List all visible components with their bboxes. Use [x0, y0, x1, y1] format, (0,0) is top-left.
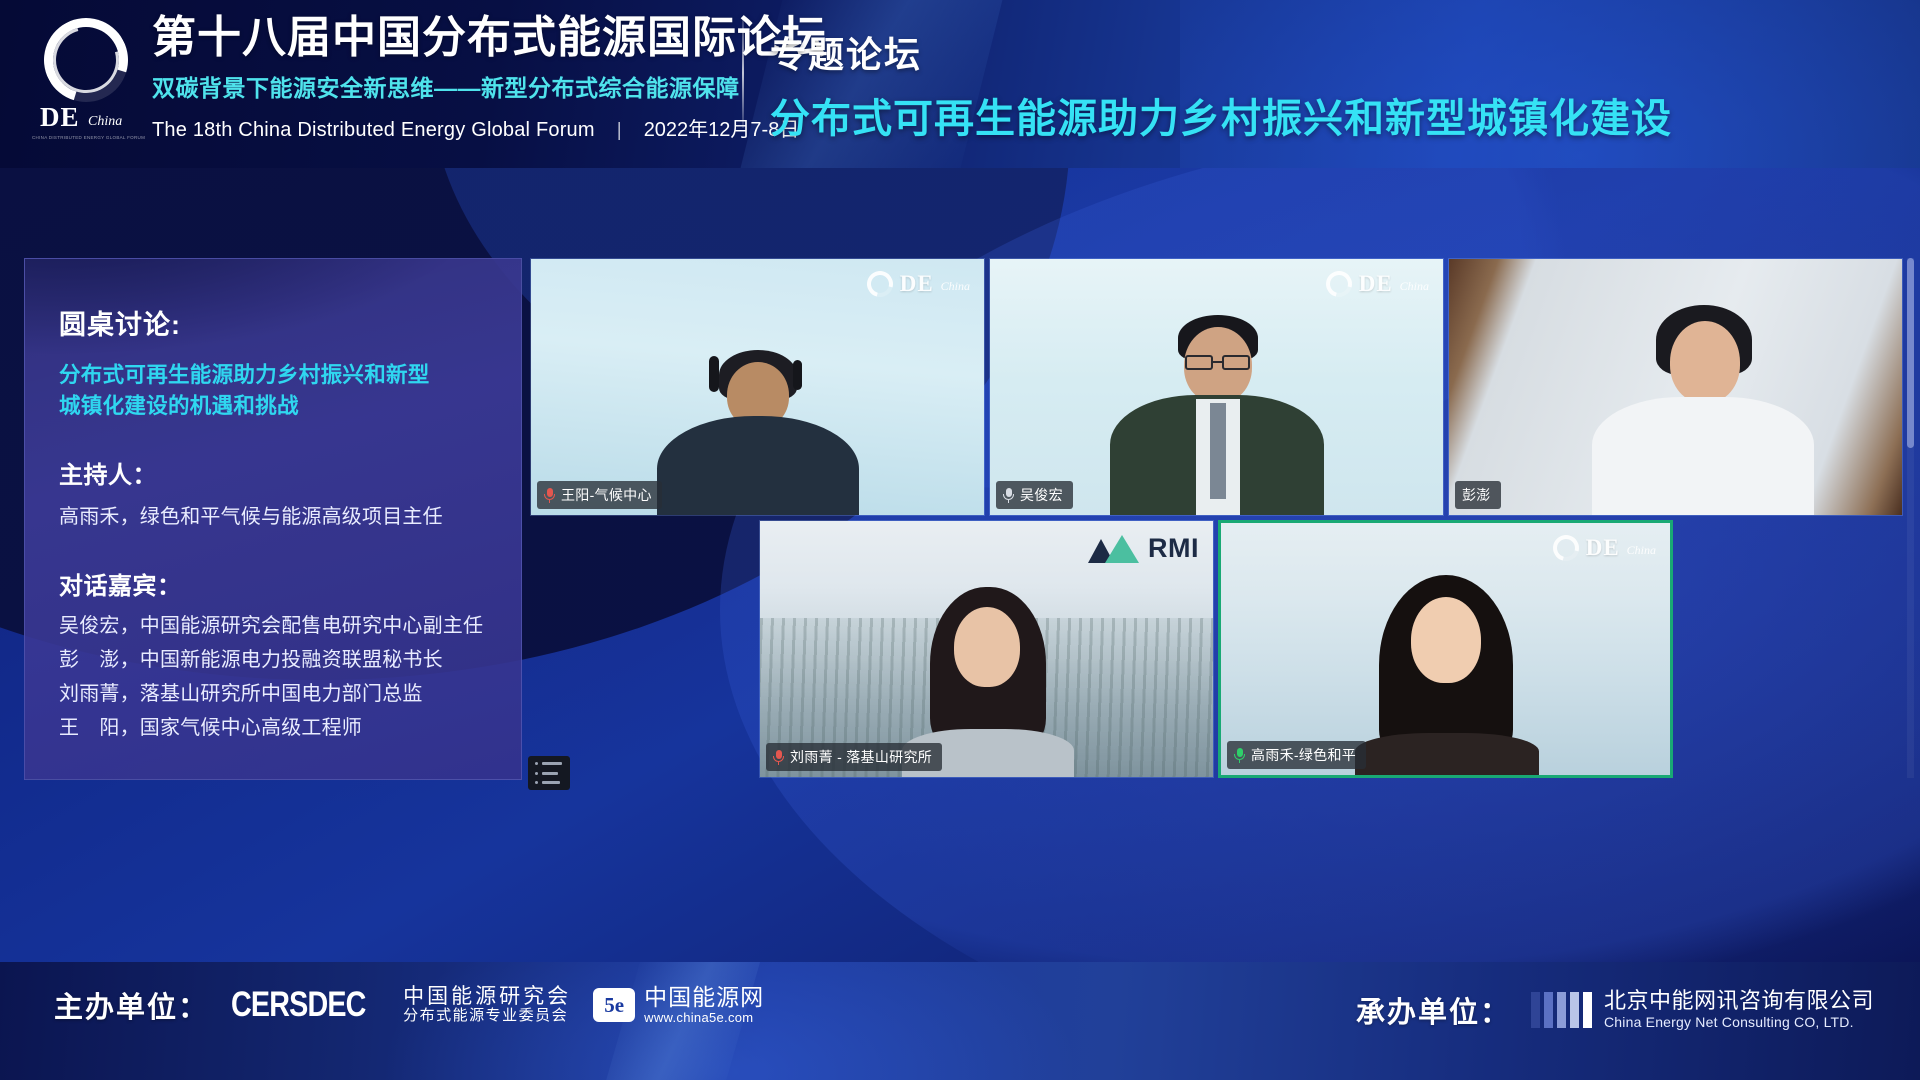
watermark-china-text: China	[941, 279, 970, 294]
glasses-left-icon	[1185, 355, 1213, 370]
participant-name: 吴俊宏	[1020, 485, 1063, 505]
headset-band-icon	[709, 356, 719, 392]
china-energy-net-logo: 北京中能网讯咨询有限公司 China Energy Net Consulting…	[1531, 988, 1874, 1031]
session-topic: 分布式可再生能源助力乡村振兴和新型城镇化建设	[770, 86, 1672, 144]
guest-list: 吴俊宏，中国能源研究会配售电研究中心副主任 彭 澎，中国新能源电力投融资联盟秘书…	[59, 611, 487, 743]
cersdec-chinese-name: 中国能源研究会 分布式能源专业委员会	[403, 985, 571, 1025]
participant-silhouette	[1578, 305, 1828, 515]
microphone-icon	[773, 750, 784, 765]
participant-silhouette	[643, 350, 873, 515]
watermark-ring-icon	[862, 266, 898, 302]
watermark-de-text: DE	[1359, 271, 1393, 297]
participant-name: 刘雨菁 - 落基山研究所	[790, 747, 932, 767]
forum-title-en: The 18th China Distributed Energy Global…	[152, 119, 595, 142]
video-grid-scrollbar[interactable]	[1907, 258, 1914, 778]
roundtable-topic-line-1: 分布式可再生能源助力乡村振兴和新型	[59, 360, 487, 391]
microphone-icon	[1003, 488, 1014, 503]
presentation-stage: DE China CHINA DISTRIBUTED ENERGY GLOBAL…	[0, 0, 1920, 1080]
china5e-text-block: 中国能源网 www.china5e.com	[644, 984, 764, 1025]
header-separator: |	[617, 120, 622, 142]
participant-name-badge: 刘雨菁 - 落基山研究所	[766, 743, 942, 771]
headset-earcup-icon	[793, 360, 802, 390]
participant-name: 彭澎	[1462, 485, 1491, 505]
cersdec-name-line-2: 分布式能源专业委员会	[403, 1008, 571, 1025]
header-english-row: The 18th China Distributed Energy Global…	[152, 113, 827, 142]
microphone-icon	[544, 488, 555, 503]
cenc-bars-icon	[1531, 992, 1592, 1028]
tie-shape	[1210, 403, 1226, 499]
watermark-china-text: China	[1627, 543, 1656, 558]
participant-name: 高雨禾-绿色和平	[1251, 745, 1356, 765]
head-shape	[954, 607, 1020, 687]
participants-list-icon[interactable]	[528, 756, 570, 790]
de-logo-ring-inner-icon	[41, 15, 131, 105]
roundtable-topic: 分布式可再生能源助力乡村振兴和新型 城镇化建设的机遇和挑战	[59, 360, 487, 421]
guest-item: 彭 澎，中国新能源电力投融资联盟秘书长	[59, 645, 487, 675]
de-china-logo: DE China CHINA DISTRIBUTED ENERGY GLOBAL…	[26, 18, 144, 138]
sponsor-footer: 主办单位： CERSDEC 中国能源研究会 分布式能源专业委员会 5e 中国能源…	[0, 962, 1920, 1080]
scrollbar-thumb[interactable]	[1907, 258, 1914, 448]
head-shape	[1411, 597, 1481, 683]
participant-name-badge: 高雨禾-绿色和平	[1227, 741, 1366, 769]
china5e-name: 中国能源网	[644, 984, 764, 1010]
host-heading: 主持人：	[59, 455, 487, 490]
cersdec-name-line-1: 中国能源研究会	[403, 985, 571, 1009]
rmi-mountain-icon	[1088, 535, 1140, 563]
rmi-watermark: RMI	[1088, 533, 1199, 564]
de-china-watermark: DE China	[1326, 271, 1429, 297]
torso-shape	[1592, 397, 1814, 516]
watermark-china-text: China	[1400, 279, 1429, 294]
participant-name: 王阳-气候中心	[561, 485, 652, 505]
china5e-mark-icon: 5e	[593, 988, 635, 1022]
watermark-ring-icon	[1548, 530, 1584, 566]
forum-header-banner: DE China CHINA DISTRIBUTED ENERGY GLOBAL…	[0, 0, 1920, 168]
watermark-de-text: DE	[1586, 535, 1620, 561]
china5e-logo: 5e 中国能源网 www.china5e.com	[593, 984, 764, 1025]
cersdec-logo: CERSDEC 中国能源研究会 分布式能源专业委员会	[231, 985, 571, 1025]
de-china-watermark: DE China	[867, 271, 970, 297]
watermark-de-text: DE	[900, 271, 934, 297]
host-organization-label: 承办单位：	[1356, 989, 1511, 1031]
roundtable-label: 圆桌讨论:	[59, 303, 487, 342]
roundtable-topic-line-2: 城镇化建设的机遇和挑战	[59, 391, 487, 422]
participant-name-badge: 吴俊宏	[996, 481, 1073, 509]
de-logo-china-text: China	[88, 114, 122, 130]
participant-silhouette	[1092, 315, 1342, 515]
organizer-label: 主办单位：	[54, 984, 209, 1026]
header-vertical-divider	[742, 18, 744, 128]
guest-item: 刘雨菁，落基山研究所中国电力部门总监	[59, 679, 487, 709]
participant-name-badge: 彭澎	[1455, 481, 1501, 509]
host-organization-block: 承办单位： 北京中能网讯咨询有限公司 China Energy Net Cons…	[1356, 988, 1874, 1031]
microphone-icon	[1234, 748, 1245, 763]
torso-shape	[1355, 733, 1539, 778]
cersdec-mark-text: CERSDEC	[231, 985, 366, 1025]
cenc-name-en: China Energy Net Consulting CO, LTD.	[1604, 1014, 1874, 1031]
de-china-watermark: DE China	[1553, 535, 1656, 561]
video-tile-liuyujing[interactable]: RMI 刘雨菁 - 落基山研究所	[759, 520, 1214, 778]
de-logo-tagline: CHINA DISTRIBUTED ENERGY GLOBAL FORUM	[32, 135, 145, 140]
video-tile-wangyang[interactable]: DE China 王阳-气候中心	[530, 258, 985, 516]
de-logo-de-text: DE	[40, 102, 80, 133]
forum-subtitle-cn: 双碳背景下能源安全新思维——新型分布式综合能源保障	[152, 69, 827, 103]
roundtable-info-panel: 圆桌讨论: 分布式可再生能源助力乡村振兴和新型 城镇化建设的机遇和挑战 主持人：…	[24, 258, 522, 780]
guest-item: 王 阳，国家气候中心高级工程师	[59, 713, 487, 743]
cenc-name-cn: 北京中能网讯咨询有限公司	[1604, 988, 1874, 1014]
guest-item: 吴俊宏，中国能源研究会配售电研究中心副主任	[59, 611, 487, 641]
host-name-title: 高雨禾，绿色和平气候与能源高级项目主任	[59, 502, 487, 532]
video-tile-gaoyuhe[interactable]: DE China 高雨禾-绿色和平	[1218, 520, 1673, 778]
video-tile-pengpeng[interactable]: 彭澎	[1448, 258, 1903, 516]
torso-shape	[657, 416, 859, 516]
participant-name-badge: 王阳-气候中心	[537, 481, 662, 509]
china5e-url: www.china5e.com	[644, 1011, 764, 1026]
video-tile-wujunhong[interactable]: DE China 吴俊宏	[989, 258, 1444, 516]
header-session-block: 专题论坛 分布式可再生能源助力乡村振兴和新型城镇化建设	[770, 26, 1672, 144]
organizer-block: 主办单位： CERSDEC 中国能源研究会 分布式能源专业委员会 5e 中国能源…	[54, 984, 764, 1026]
cenc-text-block: 北京中能网讯咨询有限公司 China Energy Net Consulting…	[1604, 988, 1874, 1031]
watermark-ring-icon	[1321, 266, 1357, 302]
guests-heading: 对话嘉宾：	[59, 566, 487, 601]
head-shape	[1670, 321, 1740, 403]
header-main-block: 第十八届中国分布式能源国际论坛 双碳背景下能源安全新思维——新型分布式综合能源保…	[152, 14, 827, 142]
glasses-right-icon	[1222, 355, 1250, 370]
forum-title-cn: 第十八届中国分布式能源国际论坛	[152, 14, 827, 62]
rmi-text: RMI	[1148, 533, 1199, 564]
glasses-bridge-icon	[1213, 361, 1222, 363]
session-type-label: 专题论坛	[770, 26, 1672, 78]
